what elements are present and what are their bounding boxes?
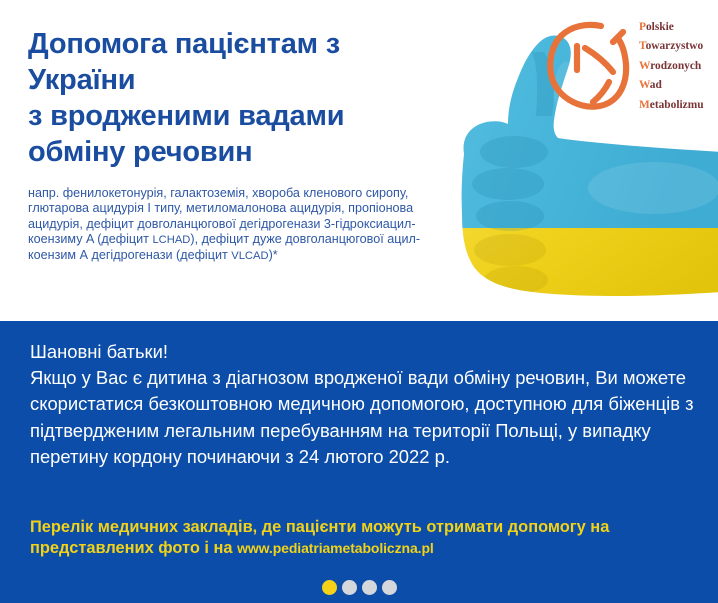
organization-logo: Polskie Towarzystwo Wrodzonych Wad Metab… [543, 10, 718, 122]
logo-line-rest: etabolizmu [650, 99, 704, 111]
blue-info-section: Шановні батьки! Якщо у Вас є дитина з ді… [0, 321, 718, 603]
website-url[interactable]: www.pediatriametaboliczna.pl [237, 540, 434, 556]
carousel-dot-3[interactable] [362, 580, 377, 595]
facility-list-callout: Перелік медичних закладів, де пацієнти м… [30, 517, 702, 559]
carousel-dot-2[interactable] [342, 580, 357, 595]
logo-line: Towarzystwo [639, 37, 718, 56]
logo-line: Metabolizmu [639, 96, 718, 115]
disease-abbr-lchad: LCHAD [152, 234, 190, 246]
organization-name: Polskie Towarzystwo Wrodzonych Wad Metab… [639, 18, 718, 115]
poster-slide: Допомога пацієнтам з України з вродженим… [0, 0, 718, 603]
carousel-pagination[interactable] [0, 576, 718, 598]
logo-line-cap: P [639, 21, 646, 33]
logo-line: Wad [639, 76, 718, 95]
carousel-dot-1[interactable] [322, 580, 337, 595]
hexagon-icon [543, 12, 641, 116]
logo-line-rest: olskie [646, 21, 674, 33]
logo-line-cap: M [639, 99, 650, 111]
logo-line-cap: W [639, 60, 650, 72]
disease-abbr-vlcad: VLCAD [231, 250, 268, 262]
logo-line-rest: owarzystwo [646, 40, 704, 52]
logo-line-rest: rodzonych [650, 60, 701, 72]
disease-list-part-3: )* [269, 248, 278, 262]
disease-list-text: напр. фенилокетонурія, галактозeмія, хво… [28, 186, 422, 264]
parents-message-text: Шановні батьки! Якщо у Вас є дитина з ді… [30, 339, 695, 470]
logo-line-cap: W [639, 79, 650, 91]
top-white-section: Допомога пацієнтам з України з вродженим… [0, 0, 718, 321]
logo-line-rest: ad [650, 79, 662, 91]
logo-line: Wrodzonych [639, 57, 718, 76]
carousel-dot-4[interactable] [382, 580, 397, 595]
poster-headline: Допомога пацієнтам з України з вродженим… [28, 26, 458, 170]
logo-line: Polskie [639, 18, 718, 37]
